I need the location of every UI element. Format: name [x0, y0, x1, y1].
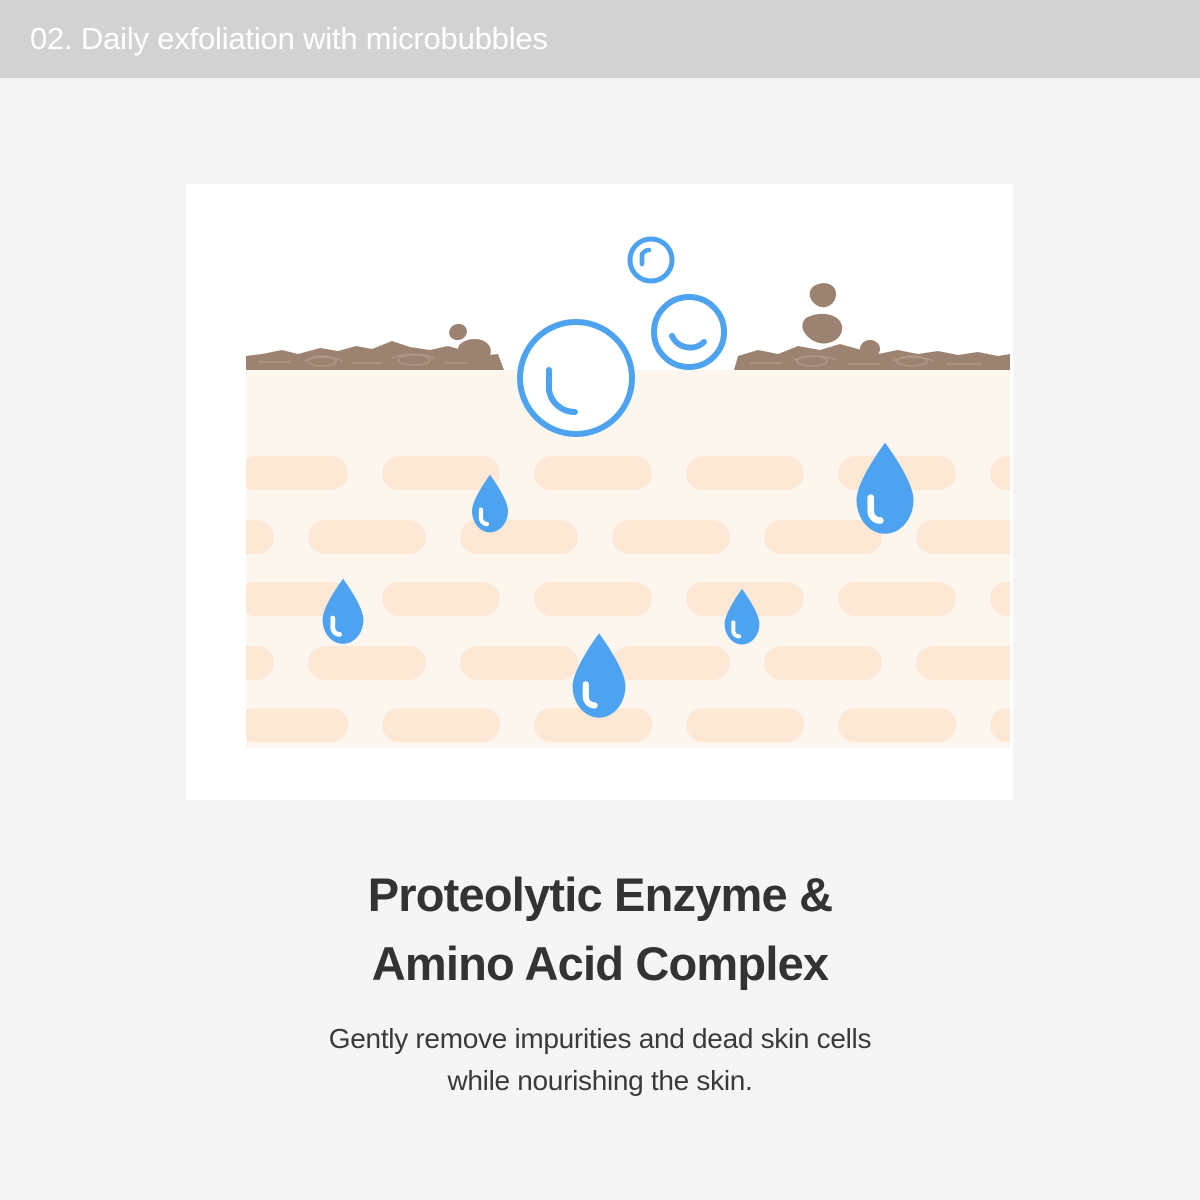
medium-bubble	[654, 297, 724, 367]
dirt-speck-left-small	[447, 322, 469, 343]
page-subtitle: Gently remove impurities and dead skin c…	[0, 1018, 1200, 1101]
small-bubble	[630, 239, 672, 281]
header-step-label: 02. Daily exfoliation with microbubbles	[30, 19, 548, 59]
subcopy-line-2: while nourishing the skin.	[0, 1060, 1200, 1101]
text-block: Proteolytic Enzyme & Amino Acid Complex …	[0, 860, 1200, 1101]
promo-page: 02. Daily exfoliation with microbubbles	[0, 0, 1200, 1200]
illustration-card	[186, 184, 1013, 800]
dirt-speck-right-top	[810, 283, 836, 307]
dirt-speck-right-mid	[802, 314, 842, 344]
subcopy-line-1: Gently remove impurities and dead skin c…	[0, 1018, 1200, 1059]
header-band: 02. Daily exfoliation with microbubbles	[0, 0, 1200, 78]
headline-line-2: Amino Acid Complex	[0, 929, 1200, 998]
headline-line-1: Proteolytic Enzyme &	[0, 860, 1200, 929]
dirt-speck-right-small	[860, 340, 880, 358]
large-bubble	[520, 322, 632, 434]
page-title: Proteolytic Enzyme & Amino Acid Complex	[0, 860, 1200, 998]
skin-cross-section-illustration	[186, 184, 1013, 800]
